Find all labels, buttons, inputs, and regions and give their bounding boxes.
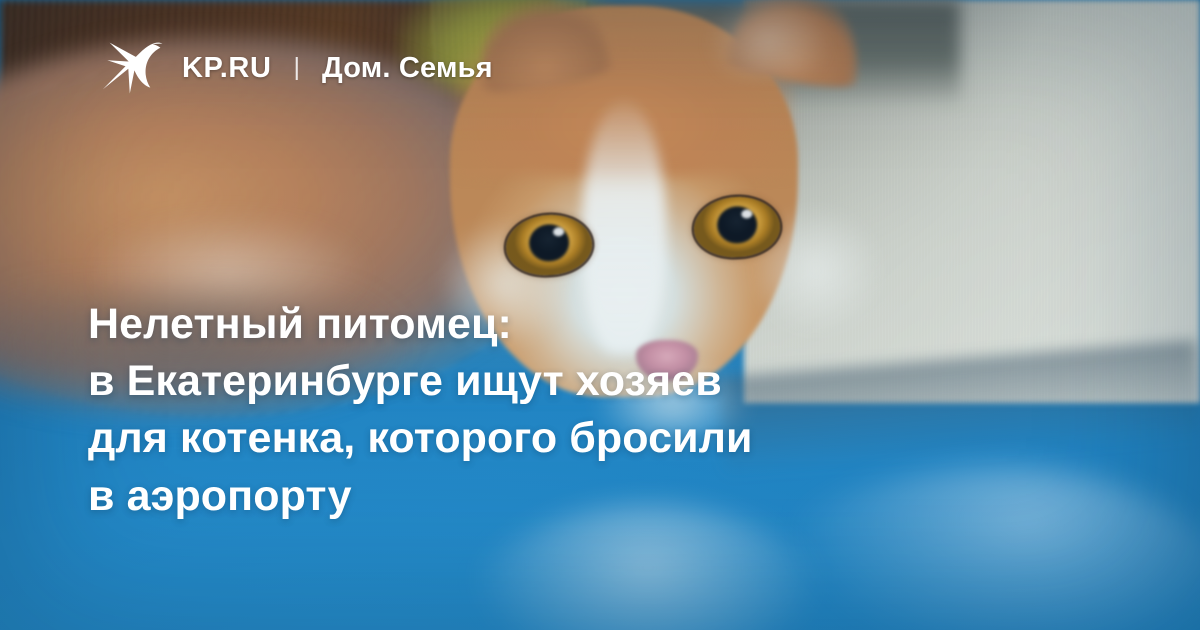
rubric-label[interactable]: Дом. Семья [322, 52, 493, 85]
headline-line-3: для котенка, которого бросили [88, 410, 1088, 467]
brand-name[interactable]: KP.RU [182, 52, 272, 85]
headline-line-1: Нелетный питомец: [88, 296, 1088, 353]
headline-line-4: в аэропорту [88, 468, 1088, 525]
swallow-bird-logo-icon[interactable] [96, 37, 166, 99]
headline-line-2: в Екатеринбурге ищут хозяев [88, 353, 1088, 410]
social-share-card: KP.RU | Дом. Семья Нелетный питомец: в Е… [0, 0, 1200, 630]
headline: Нелетный питомец: в Екатеринбурге ищут х… [88, 296, 1088, 525]
brand-header: KP.RU | Дом. Семья [96, 37, 493, 99]
header-divider: | [294, 53, 301, 82]
